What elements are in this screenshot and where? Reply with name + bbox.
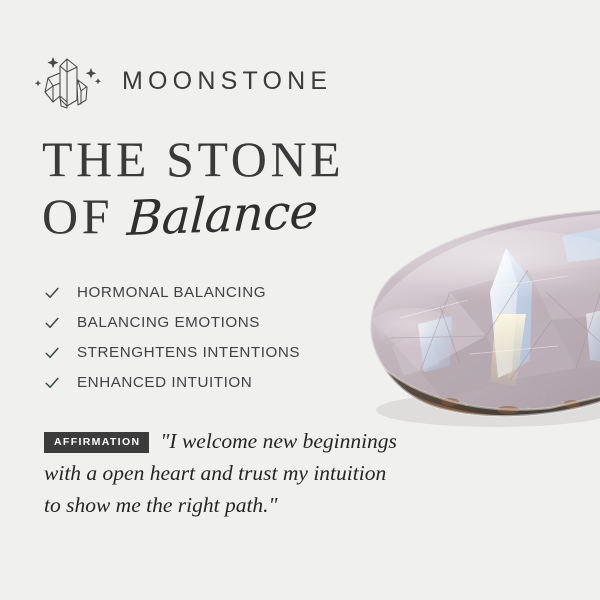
title-line-one: THE STONE xyxy=(42,134,512,184)
benefits-list: HORMONAL BALANCING BALANCING EMOTIONS ST… xyxy=(44,278,374,398)
status-badge: AFFIRMATION xyxy=(44,432,149,453)
affirmation-text: AFFIRMATION"I welcome new beginningswith… xyxy=(44,425,454,521)
check-icon xyxy=(44,345,60,361)
crystal-cluster-icon xyxy=(34,50,106,112)
check-icon xyxy=(44,375,60,391)
check-icon xyxy=(44,285,60,301)
list-item: BALANCING EMOTIONS xyxy=(44,308,374,338)
affirmation-quote-line-three: to show me the right path." xyxy=(44,493,278,517)
list-item: HORMONAL BALANCING xyxy=(44,278,374,308)
brand-name: MOONSTONE xyxy=(122,69,332,94)
list-item-label: HORMONAL BALANCING xyxy=(77,285,266,300)
list-item: ENHANCED INTUITION xyxy=(44,368,374,398)
sparkle-icon xyxy=(47,57,58,68)
affirmation-block: AFFIRMATION"I welcome new beginningswith… xyxy=(44,425,454,521)
list-item: STRENGHTENS INTENTIONS xyxy=(44,338,374,368)
check-icon xyxy=(44,315,60,331)
brand-lockup: MOONSTONE xyxy=(34,50,332,112)
title-line-two: OF Balance xyxy=(42,191,512,241)
affirmation-quote-line-one: "I welcome new beginnings xyxy=(160,429,397,453)
title-script-word: Balance xyxy=(126,188,319,243)
sparkle-icon xyxy=(86,68,97,79)
list-item-label: BALANCING EMOTIONS xyxy=(77,315,260,330)
list-item-label: ENHANCED INTUITION xyxy=(77,375,252,390)
title-of-word: OF xyxy=(42,191,113,241)
list-item-label: STRENGHTENS INTENTIONS xyxy=(77,345,300,360)
page-title: THE STONE OF Balance xyxy=(42,134,512,241)
sparkle-icon xyxy=(35,80,41,86)
moonstone-infographic-card: MOONSTONE THE STONE OF Balance HORMONAL … xyxy=(0,0,600,600)
sparkle-icon xyxy=(95,78,101,84)
affirmation-quote-line-two: with a open heart and trust my intuition xyxy=(44,461,386,485)
